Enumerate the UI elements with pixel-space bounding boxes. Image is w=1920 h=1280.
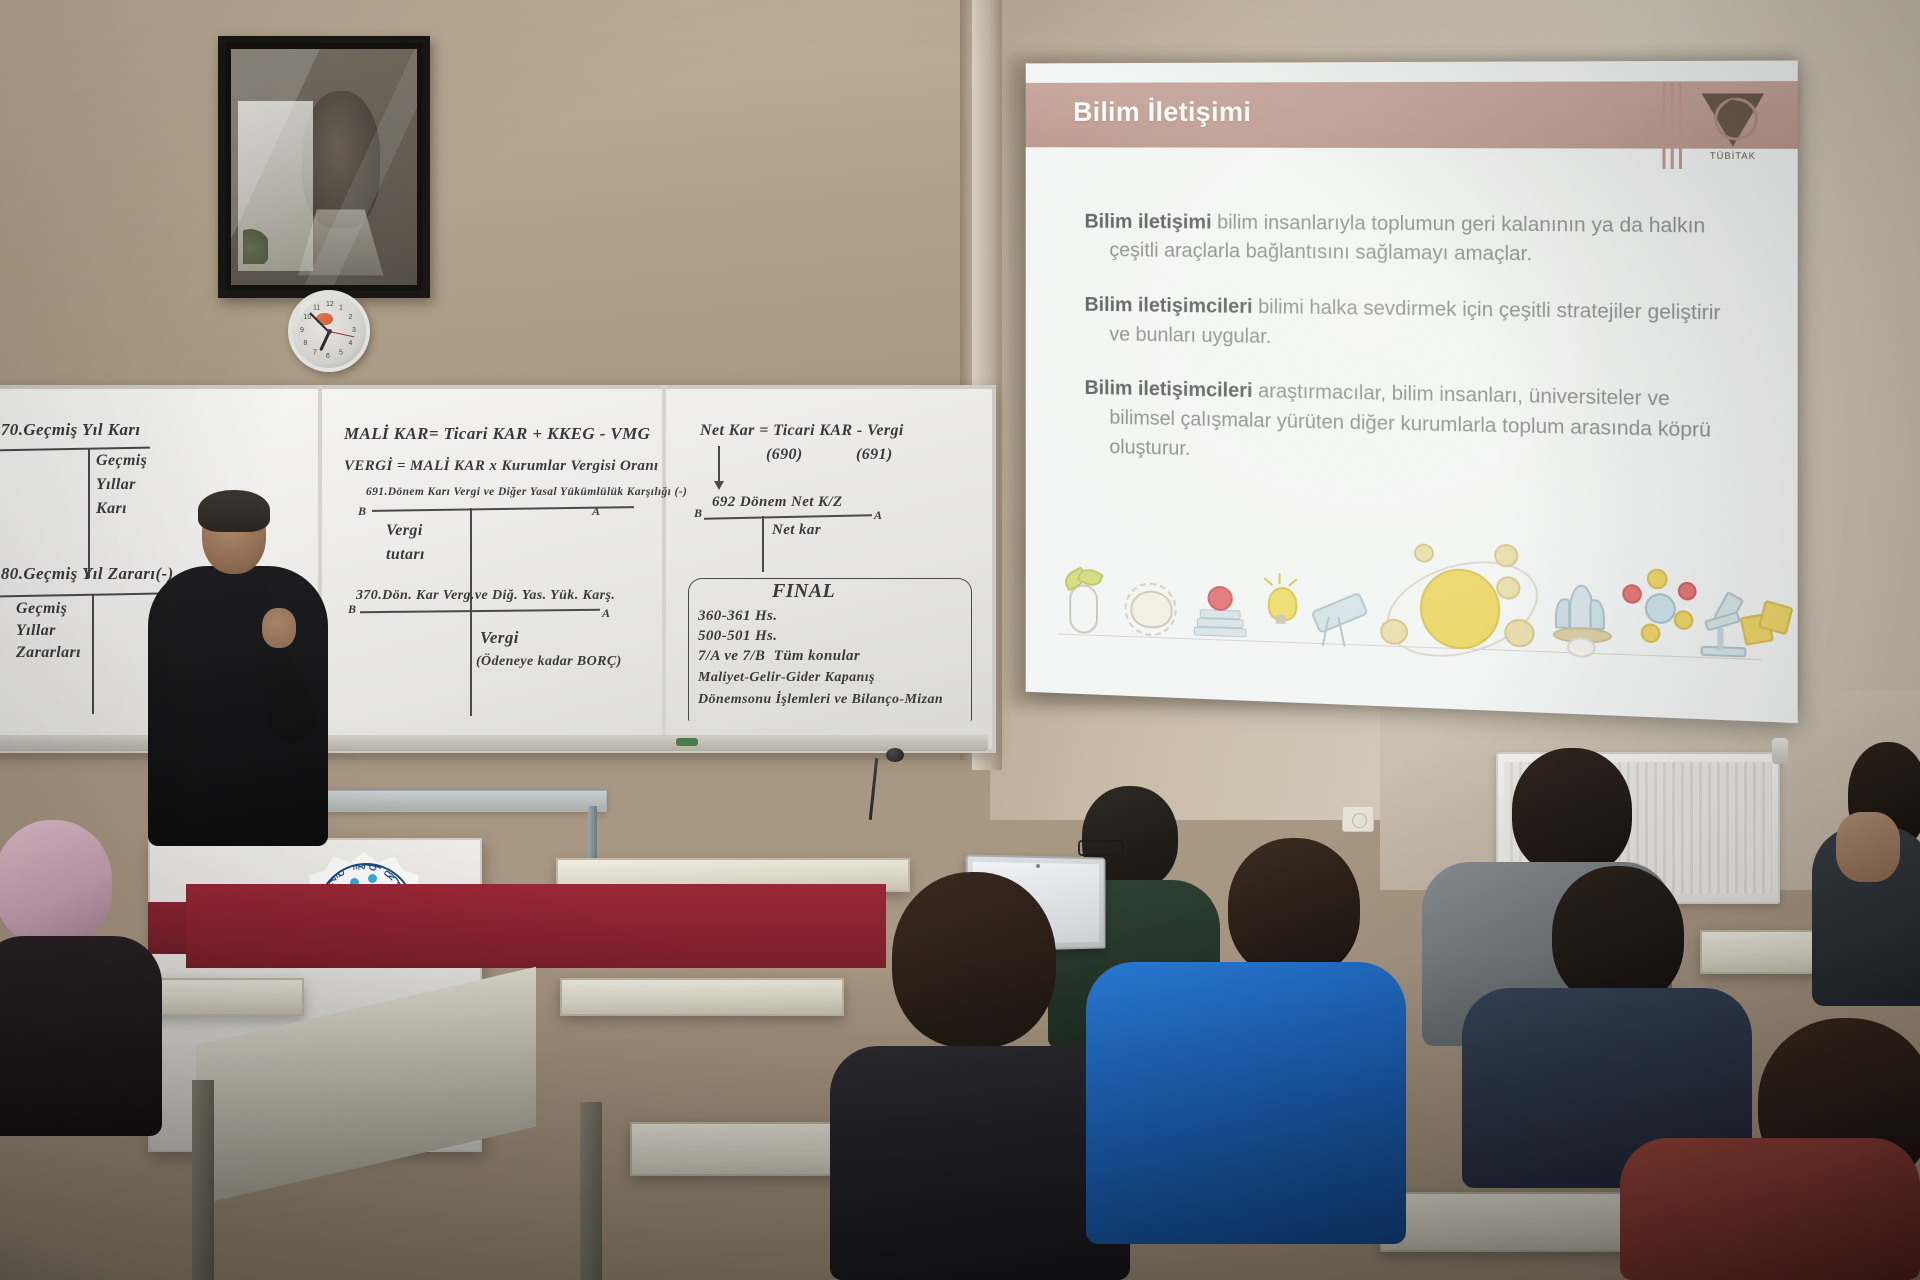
- moon-icon: [1496, 576, 1520, 600]
- wb-account-691: 691.Dönem Karı Vergi ve Diğer Yasal Yükü…: [366, 486, 687, 498]
- wb-account-570: 570.Geçmiş Yıl Karı: [0, 420, 140, 440]
- slide-stripes-decor: [1662, 81, 1689, 169]
- student-glasses: [1078, 840, 1124, 856]
- moon-icon: [1380, 618, 1408, 645]
- desk-leg-mid: [580, 1102, 602, 1280]
- moon-icon: [1414, 543, 1434, 563]
- dna-icon: [1066, 568, 1098, 634]
- slide-paragraph-1: Bilim iletişimi bilim insanlarıyla toplu…: [1085, 207, 1722, 272]
- wb-570-note-2: Yıllar: [96, 476, 136, 494]
- tubitak-logo: TÜBİTAK: [1695, 83, 1770, 169]
- wb-370-note-2: (Ödeneye kadar BORÇ): [476, 654, 622, 670]
- slide-paragraph-1-lead: Bilim iletişimi: [1085, 209, 1212, 233]
- wb-formula-vergi: VERGİ = MALİ KAR x Kurumlar Vergisi Oran…: [344, 458, 659, 475]
- tubitak-label: TÜBİTAK: [1695, 151, 1770, 161]
- clock-numeral: 2: [349, 314, 353, 321]
- wb-account-370: 370.Dön. Kar Verg.ve Diğ. Yas. Yük. Karş…: [356, 588, 615, 604]
- clock-numeral: 10: [303, 314, 311, 321]
- whiteboard-seam-right: [662, 385, 666, 745]
- slide-paragraph-3: Bilim iletişimcileri araştırmacılar, bil…: [1085, 374, 1722, 477]
- moon-icon: [1504, 619, 1534, 648]
- wb-t-vline-370: [470, 610, 472, 716]
- wb-580-note-1: Geçmiş: [16, 600, 67, 618]
- wb-final-line-2: 500-501 Hs.: [698, 628, 777, 645]
- clock-numeral: 12: [326, 301, 334, 308]
- clock-numeral: 7: [313, 350, 317, 357]
- planet-icon: [1378, 544, 1559, 654]
- wb-t-vline-570: [88, 448, 90, 578]
- classroom-scene: 121234567891011 570.Geçmiş Yıl Karı Geçm…: [0, 0, 1920, 1280]
- wb-final-line-1: 360-361 Hs.: [698, 608, 777, 625]
- clock-numeral: 8: [303, 340, 307, 347]
- slide-paragraph-2-lead: Bilim iletişimcileri: [1085, 293, 1253, 318]
- framed-portrait: [218, 36, 430, 298]
- clock-hour-hand: [319, 332, 330, 351]
- lightbulb-icon: [1262, 573, 1301, 636]
- wb-370-credit: A: [602, 606, 610, 621]
- moon-icon: [1494, 544, 1518, 568]
- clock-face: 121234567891011: [297, 299, 361, 363]
- wb-final-line-3: 7/A ve 7/B Tüm konular: [698, 648, 860, 665]
- rocket-icon: [1547, 580, 1614, 655]
- upper-back-wall: [0, 0, 1000, 385]
- telescope-icon: [1307, 584, 1368, 648]
- wb-580-note-2: Yıllar: [16, 622, 56, 640]
- wb-580-note-3: Zararları: [16, 644, 81, 662]
- projection-screen: Bilim İletişimi TÜBİTAK Bilim iletişimi …: [1026, 61, 1798, 724]
- wb-370-debit: B: [348, 602, 356, 617]
- wb-t-vline-580: [92, 594, 94, 714]
- wb-570-note-3: Karı: [96, 500, 127, 518]
- desk-front-panel-1: [186, 884, 886, 968]
- apple-icon: [1208, 586, 1233, 612]
- slide-title: Bilim İletişimi: [1073, 96, 1251, 128]
- laptop-camera: [1036, 864, 1040, 868]
- slide-paragraph-3-lead: Bilim iletişimcileri: [1085, 377, 1253, 403]
- podium-post-right: [588, 806, 597, 858]
- clock-numeral: 1: [339, 304, 343, 311]
- glass-streak: [231, 49, 417, 285]
- wb-final-line-5: Dönemsonu İşlemleri ve Bilanço-Mizan: [698, 692, 943, 708]
- radiator-valve: [1772, 738, 1788, 764]
- puzzle-icon: [1742, 602, 1788, 649]
- wb-final-line-4: Maliyet-Gelir-Gider Kapanış: [698, 670, 875, 686]
- wb-691-note-1: Vergi: [386, 522, 423, 540]
- wb-code-691: (691): [856, 446, 893, 464]
- wb-691-debit: B: [358, 504, 366, 519]
- wb-formula-netkar: Net Kar = Ticari KAR - Vergi: [700, 422, 904, 440]
- clock-numeral: 3: [352, 327, 356, 334]
- molecule-icon: [1622, 570, 1694, 644]
- clock-numeral: 5: [339, 350, 343, 357]
- wb-691-credit: A: [592, 504, 600, 519]
- slide-paragraph-2: Bilim iletişimcileri bilimi halka sevdir…: [1085, 290, 1722, 359]
- clock-second-hand: [329, 331, 355, 338]
- clock-numeral: 4: [349, 340, 353, 347]
- presenter-hair: [198, 490, 270, 532]
- portrait-mat: [231, 49, 417, 285]
- clock-numeral: 11: [313, 304, 320, 311]
- wb-account-692: 692 Dönem Net K/Z: [712, 494, 843, 511]
- wb-final-heading: FINAL: [772, 580, 835, 603]
- microphone-head: [886, 748, 904, 762]
- whiteboard-marker: [676, 738, 698, 746]
- wb-692-debit: B: [694, 506, 702, 521]
- planet-orbit: [1374, 545, 1550, 673]
- wb-code-690: (690): [766, 446, 803, 464]
- brain-icon: [1123, 578, 1177, 635]
- wb-formula-malikar: MALİ KAR= Ticari KAR + KKEG - VMG: [344, 424, 650, 444]
- gooseneck-microphone: [869, 758, 878, 820]
- wb-570-note-1: Geçmiş: [96, 452, 147, 470]
- wb-370-note-1: Vergi: [480, 628, 519, 648]
- wb-692-note: Net kar: [772, 522, 821, 539]
- desk-row2-mid: [560, 978, 844, 1016]
- books-icon: [1192, 580, 1248, 639]
- wb-t-vline-692: [762, 516, 764, 572]
- clock-numeral: 9: [300, 327, 304, 334]
- wb-691-note-2: tutarı: [386, 546, 425, 564]
- slide-body: Bilim iletişimi bilim insanlarıyla toplu…: [1085, 186, 1722, 502]
- clock-center-pin: [327, 329, 332, 334]
- power-socket: [1342, 806, 1374, 832]
- wb-account-580: 580.Geçmiş Yıl Zararı(-): [0, 564, 174, 584]
- wb-arrow-down: [718, 446, 720, 488]
- wall-clock: 121234567891011: [288, 290, 370, 372]
- presenter-hand: [262, 608, 296, 648]
- slide-decoration-strip: [1058, 533, 1761, 675]
- desk-leg-left: [192, 1080, 214, 1280]
- presentation-slide: Bilim İletişimi TÜBİTAK Bilim iletişimi …: [1026, 61, 1798, 724]
- clock-numeral: 6: [326, 353, 330, 360]
- wb-692-credit: A: [874, 508, 882, 523]
